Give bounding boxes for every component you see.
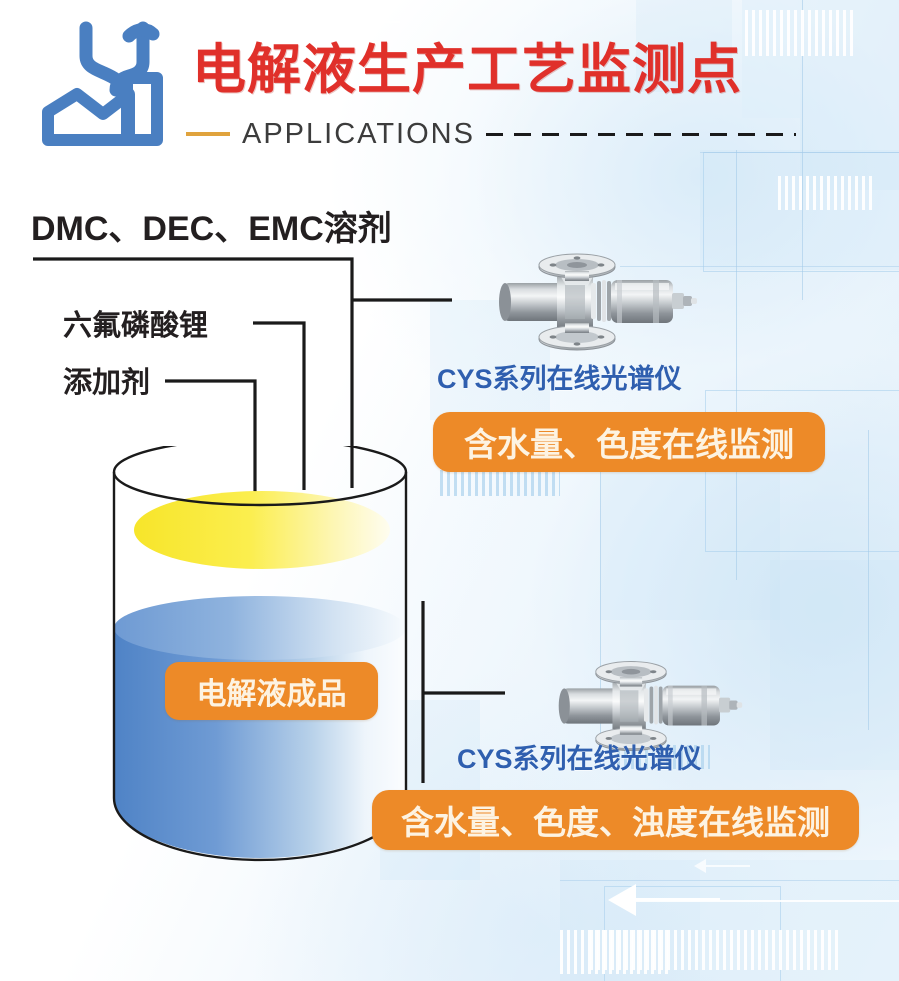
label-additive: 添加剂 — [63, 365, 150, 401]
tank-liquid — [114, 596, 406, 866]
monitoring-badge-2: 含水量、色度、浊度在线监测 — [372, 790, 859, 850]
tank-product-badge: 电解液成品 — [165, 662, 378, 720]
device-caption-2: CYS系列在线光谱仪 — [457, 743, 702, 775]
device-caption-1: CYS系列在线光谱仪 — [437, 363, 682, 395]
monitoring-badge-1: 含水量、色度在线监测 — [433, 412, 825, 472]
label-lithium-salt: 六氟磷酸锂 — [63, 308, 208, 344]
electrolyte-tank — [110, 446, 410, 866]
spectrometer-probe-icon — [555, 655, 745, 757]
infographic-page: 电解液生产工艺监测点 APPLICATIONS — [0, 0, 899, 981]
spectrometer-probe-icon — [495, 247, 700, 357]
tank-top-layer — [134, 491, 390, 569]
label-solvent: DMC、DEC、EMC溶剂 — [31, 209, 392, 249]
